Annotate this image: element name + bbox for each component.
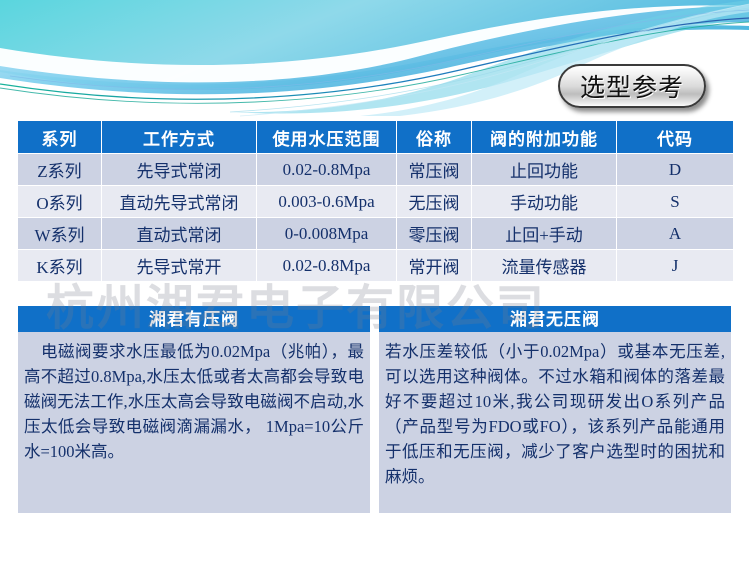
column-header-pressure: 使用水压范围	[257, 121, 397, 154]
cell-common-name: 零压阀	[397, 218, 472, 250]
cell-code: A	[617, 218, 734, 250]
panel-pressurized-valve: 湘君有压阀 电磁阀要求水压最低为0.02Mpa（兆帕），最高不超过0.8Mpa,…	[17, 305, 371, 514]
cell-series: K系列	[18, 250, 102, 282]
cell-common-name: 常压阀	[397, 154, 472, 186]
table-header-row: 系列 工作方式 使用水压范围 俗称 阀的附加功能 代码	[18, 121, 734, 154]
cell-work-mode: 先导式常开	[102, 250, 257, 282]
column-header-work-mode: 工作方式	[102, 121, 257, 154]
panel-non-pressurized-valve: 湘君无压阀 若水压差较低（小于0.02Mpa）或基本无压差,可以选用这种阀体。不…	[378, 305, 732, 514]
title-badge: 选型参考	[558, 64, 706, 108]
cell-extra-function: 流量传感器	[472, 250, 617, 282]
table-row: K系列 先导式常开 0.02-0.8Mpa 常开阀 流量传感器 J	[18, 250, 734, 282]
cell-code: J	[617, 250, 734, 282]
cell-extra-function: 止回功能	[472, 154, 617, 186]
table-row: W系列 直动式常闭 0-0.008Mpa 零压阀 止回+手动 A	[18, 218, 734, 250]
cell-common-name: 常开阀	[397, 250, 472, 282]
panel-body-non-pressurized: 若水压差较低（小于0.02Mpa）或基本无压差,可以选用这种阀体。不过水箱和阀体…	[378, 332, 732, 514]
column-header-common-name: 俗称	[397, 121, 472, 154]
cell-code: D	[617, 154, 734, 186]
cell-pressure: 0.02-0.8Mpa	[257, 250, 397, 282]
cell-work-mode: 先导式常闭	[102, 154, 257, 186]
cell-code: S	[617, 186, 734, 218]
column-header-series: 系列	[18, 121, 102, 154]
cell-pressure: 0-0.008Mpa	[257, 218, 397, 250]
cell-pressure: 0.003-0.6Mpa	[257, 186, 397, 218]
cell-work-mode: 直动式常闭	[102, 218, 257, 250]
cell-common-name: 无压阀	[397, 186, 472, 218]
column-header-code: 代码	[617, 121, 734, 154]
panel-text-non-pressurized: 若水压差较低（小于0.02Mpa）或基本无压差,可以选用这种阀体。不过水箱和阀体…	[385, 339, 725, 489]
cell-extra-function: 止回+手动	[472, 218, 617, 250]
title-badge-label: 选型参考	[580, 68, 684, 104]
cell-series: O系列	[18, 186, 102, 218]
panel-text-pressurized: 电磁阀要求水压最低为0.02Mpa（兆帕），最高不超过0.8Mpa,水压太低或者…	[24, 339, 364, 464]
valve-spec-table: 系列 工作方式 使用水压范围 俗称 阀的附加功能 代码 Z系列 先导式常闭 0.…	[17, 120, 734, 282]
cell-extra-function: 手动功能	[472, 186, 617, 218]
cell-series: W系列	[18, 218, 102, 250]
cell-work-mode: 直动先导式常闭	[102, 186, 257, 218]
table-row: O系列 直动先导式常闭 0.003-0.6Mpa 无压阀 手动功能 S	[18, 186, 734, 218]
panel-body-pressurized: 电磁阀要求水压最低为0.02Mpa（兆帕），最高不超过0.8Mpa,水压太低或者…	[17, 332, 371, 514]
panel-header-non-pressurized: 湘君无压阀	[378, 305, 732, 332]
table-row: Z系列 先导式常闭 0.02-0.8Mpa 常压阀 止回功能 D	[18, 154, 734, 186]
comparison-section: 湘君有压阀 电磁阀要求水压最低为0.02Mpa（兆帕），最高不超过0.8Mpa,…	[17, 305, 733, 514]
cell-pressure: 0.02-0.8Mpa	[257, 154, 397, 186]
column-header-extra-function: 阀的附加功能	[472, 121, 617, 154]
panel-header-pressurized: 湘君有压阀	[17, 305, 371, 332]
cell-series: Z系列	[18, 154, 102, 186]
